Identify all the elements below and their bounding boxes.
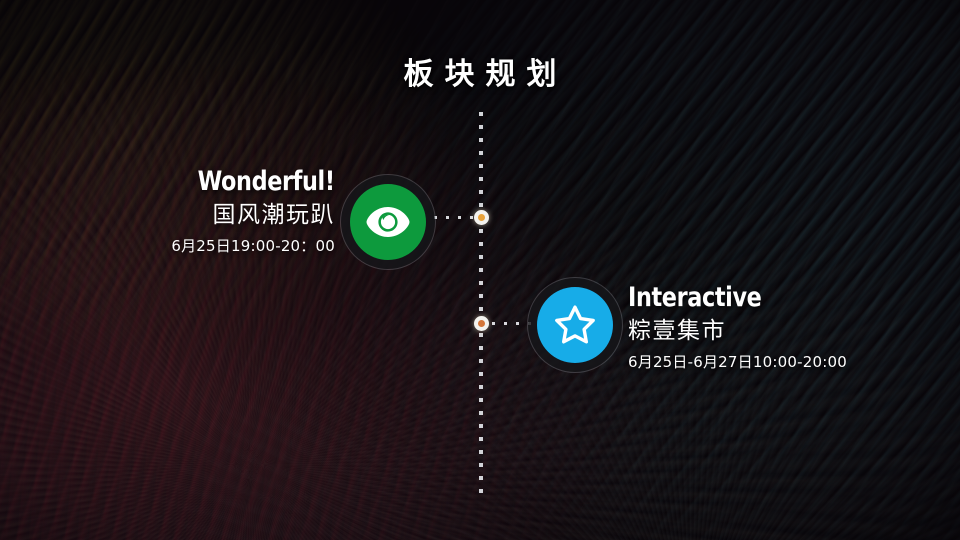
timeline-node-top bbox=[474, 210, 489, 225]
event-time-interactive: 6月25日-6月27日10:00-20:00 bbox=[628, 353, 847, 371]
eye-icon bbox=[366, 205, 410, 239]
event-subtitle-wonderful: 国风潮玩趴 bbox=[171, 202, 335, 230]
timeline-node-bottom bbox=[474, 316, 489, 331]
event-heading-interactive: Interactive bbox=[628, 284, 829, 312]
timeline-connector-right bbox=[492, 322, 540, 325]
event-icon-badge-wonderful[interactable] bbox=[350, 184, 426, 260]
presentation-slide: 板块规划 Wonderful! 国风潮玩趴 6月25日19:00-20：00 bbox=[0, 0, 960, 540]
event-text-interactive: Interactive 粽壹集市 6月25日-6月27日10:00-20:00 bbox=[628, 284, 847, 371]
star-icon bbox=[553, 304, 597, 346]
event-subtitle-interactive: 粽壹集市 bbox=[628, 318, 847, 346]
timeline-connector-left bbox=[434, 216, 476, 219]
event-time-wonderful: 6月25日19:00-20：00 bbox=[171, 237, 335, 255]
event-text-wonderful: Wonderful! 国风潮玩趴 6月25日19:00-20：00 bbox=[171, 168, 335, 255]
event-heading-wonderful: Wonderful! bbox=[184, 168, 335, 196]
event-icon-badge-interactive[interactable] bbox=[537, 287, 613, 363]
slide-title: 板块规划 bbox=[0, 60, 960, 90]
timeline-dotted-spine bbox=[479, 112, 483, 494]
